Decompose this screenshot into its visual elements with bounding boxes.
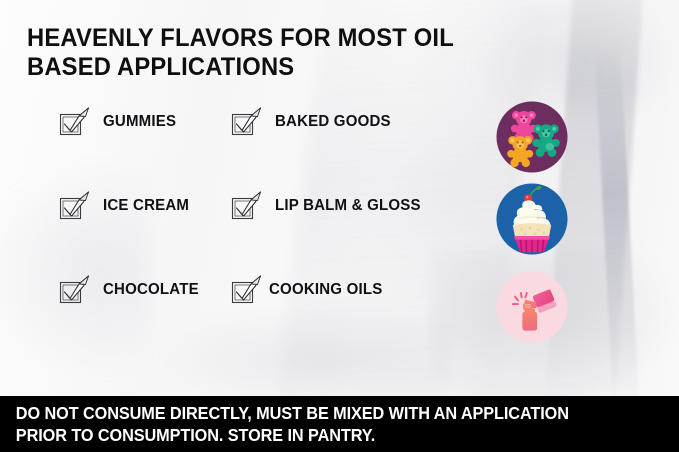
- checklist-item-label: BAKED GOODS: [275, 113, 391, 131]
- checklist-item-gummies: GUMMIES: [58, 106, 178, 138]
- checkbox-checked-icon: [58, 274, 92, 306]
- checkbox-checked-icon: [230, 274, 264, 306]
- checklist-row: CHOCOLATE COOKING OILS: [0, 266, 470, 350]
- checklist-item-ice-cream: ICE CREAM: [58, 190, 192, 222]
- checklist-item-label: CHOCOLATE: [103, 281, 199, 299]
- checkbox-checked-icon: [58, 190, 92, 222]
- checkbox-checked-icon: [58, 106, 92, 138]
- warning-banner-text: DO NOT CONSUME DIRECTLY, MUST BE MIXED W…: [0, 402, 631, 446]
- checklist-row: ICE CREAM LIP BALM & GLOSS: [0, 182, 470, 266]
- product-feature-graphic: HEAVENLY FLAVORS FOR MOST OIL BASED APPL…: [0, 0, 679, 452]
- page-title: HEAVENLY FLAVORS FOR MOST OIL BASED APPL…: [27, 24, 521, 82]
- checkbox-checked-icon: [230, 106, 264, 138]
- checklist-item-lip-balm-gloss: LIP BALM & GLOSS: [230, 190, 425, 222]
- spray-bottle-icon: [495, 270, 569, 344]
- checklist-row: GUMMIES BAKED GOODS: [0, 98, 470, 182]
- checkbox-checked-icon: [230, 190, 264, 222]
- checklist-item-cooking-oils: COOKING OILS: [230, 274, 386, 306]
- checklist-item-label: LIP BALM & GLOSS: [275, 197, 421, 215]
- cupcake-icon: [495, 182, 569, 256]
- checklist-item-baked-goods: BAKED GOODS: [230, 106, 394, 138]
- application-checklist: GUMMIES BAKED GOODS: [0, 98, 470, 350]
- checklist-item-label: COOKING OILS: [269, 281, 382, 299]
- gummy-bears-icon: [495, 100, 569, 174]
- checklist-item-chocolate: CHOCOLATE: [58, 274, 202, 306]
- checklist-item-label: GUMMIES: [103, 113, 176, 131]
- warning-banner: DO NOT CONSUME DIRECTLY, MUST BE MIXED W…: [0, 396, 679, 452]
- checklist-item-label: ICE CREAM: [103, 197, 189, 215]
